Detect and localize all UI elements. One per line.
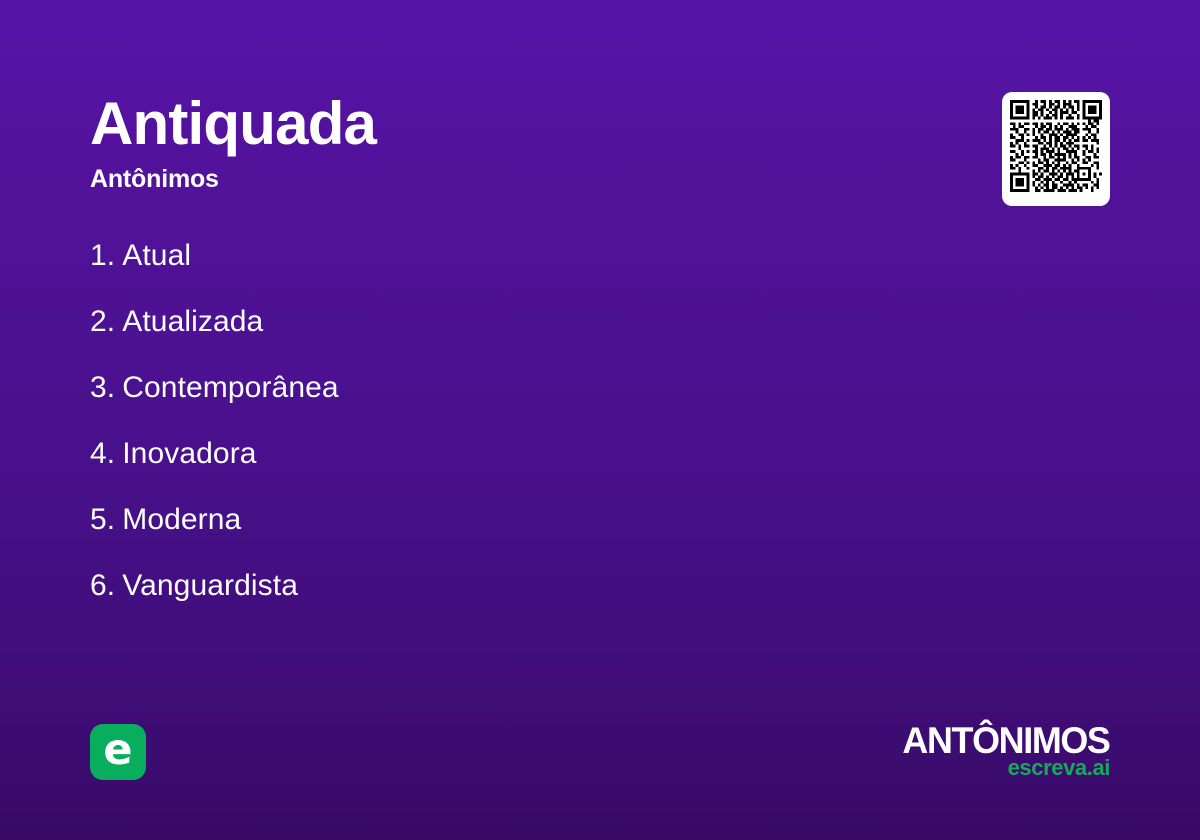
card-header: Antiquada Antônimos	[90, 92, 376, 193]
wordmark-title: ANTÔNIMOS	[903, 722, 1110, 760]
list-item-index: 2.	[90, 305, 115, 338]
brand-wordmark: ANTÔNIMOS escreva.ai	[896, 722, 1110, 779]
list-item: 1.Atual	[90, 238, 339, 304]
list-item-label: Atual	[122, 239, 191, 272]
list-item-label: Inovadora	[122, 437, 256, 470]
list-item-index: 4.	[90, 437, 115, 470]
list-item-label: Moderna	[122, 503, 241, 536]
list-item: 5.Moderna	[90, 502, 339, 568]
list-item: 6.Vanguardista	[90, 568, 339, 634]
list-item-index: 5.	[90, 503, 115, 536]
brand-letter: e	[103, 729, 132, 772]
page-title: Antiquada	[90, 92, 376, 156]
card-category-label: Antônimos	[90, 166, 376, 194]
list-item: 3.Contemporânea	[90, 370, 339, 436]
list-item-label: Atualizada	[122, 305, 263, 338]
list-item-index: 6.	[90, 569, 115, 602]
qr-code-icon	[1010, 100, 1102, 192]
list-item-index: 3.	[90, 371, 115, 404]
antonym-list: 1.Atual 2.Atualizada 3.Contemporânea 4.I…	[90, 238, 339, 634]
qr-code[interactable]	[1002, 92, 1110, 206]
escreva-logo-badge: e	[90, 724, 146, 780]
list-item: 4.Inovadora	[90, 436, 339, 502]
antonym-card: Antiquada Antônimos	[0, 0, 1200, 840]
list-item-index: 1.	[90, 239, 115, 272]
list-item-label: Contemporânea	[122, 371, 338, 404]
list-item: 2.Atualizada	[90, 304, 339, 370]
list-item-label: Vanguardista	[122, 569, 298, 602]
